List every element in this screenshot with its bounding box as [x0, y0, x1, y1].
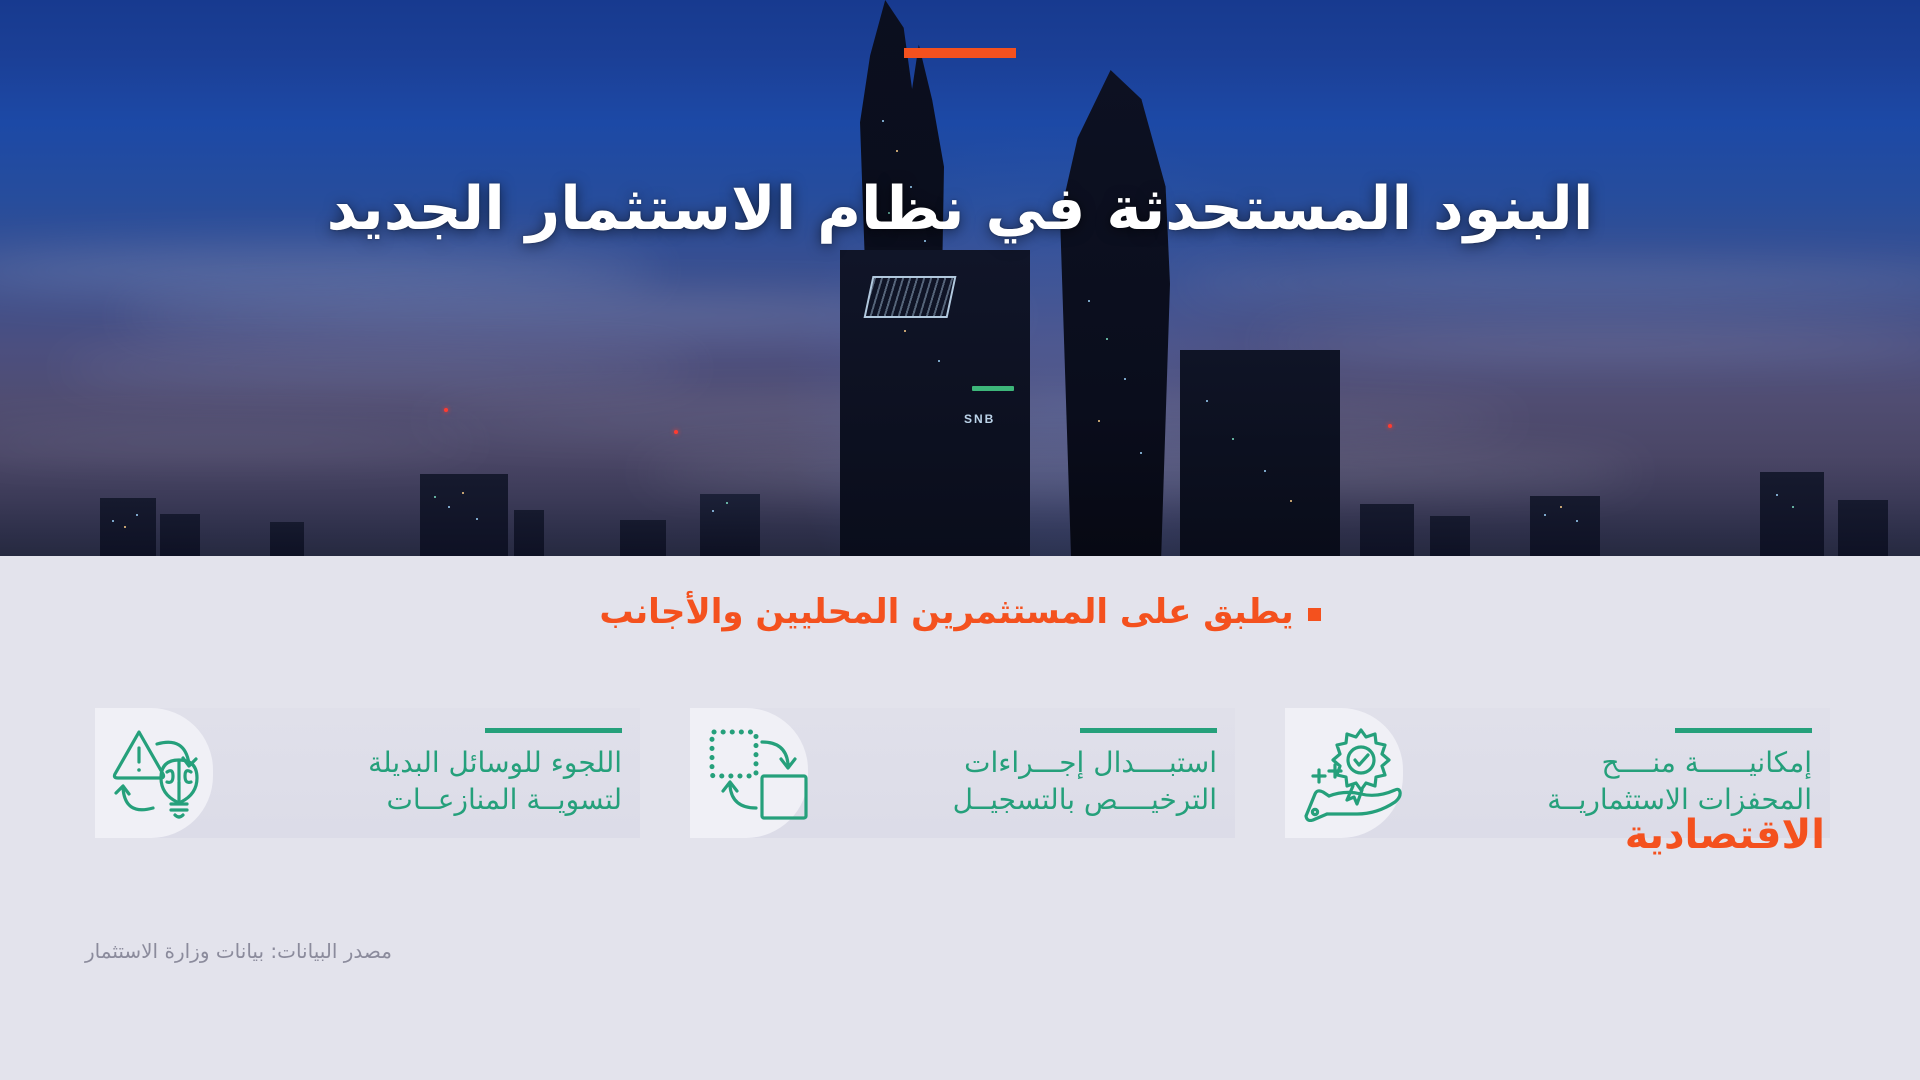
content-panel: يطبق على المستثمرين المحليين والأجانب	[0, 556, 1920, 1080]
card-top-rule	[485, 728, 622, 733]
swap-squares-icon	[700, 718, 820, 828]
snb-sign-label: SNB	[964, 412, 995, 426]
card-text-block: استبــــدال إجـــراءات الترخيــــص بالتس…	[819, 708, 1217, 838]
accent-bar	[904, 48, 1016, 58]
feature-cards: اللجوء للوسائل البديلة لتسويــة المنازعـ…	[95, 708, 1830, 838]
cloud-streak	[1260, 330, 1920, 356]
warning-lightbulb-cycle-icon	[105, 718, 225, 828]
data-source-note: مصدر البيانات: بيانات وزارة الاستثمار	[85, 939, 392, 963]
card-text-block: إمكانيــــــة منــــح المحفزات الاستثمار…	[1414, 708, 1812, 838]
card-top-rule	[1080, 728, 1217, 733]
neon-billboard-icon	[864, 276, 957, 318]
card-label: إمكانيــــــة منــــح المحفزات الاستثمار…	[1414, 745, 1812, 818]
page-title: البنود المستحدثة في نظام الاستثمار الجدي…	[0, 172, 1920, 247]
cloud-streak	[60, 355, 700, 381]
card-top-rule	[1675, 728, 1812, 733]
subtitle-text: يطبق على المستثمرين المحليين والأجانب	[599, 592, 1293, 632]
feature-card: اللجوء للوسائل البديلة لتسويــة المنازعـ…	[95, 708, 640, 838]
green-facade-light	[972, 386, 1014, 391]
card-label: اللجوء للوسائل البديلة لتسويــة المنازعـ…	[224, 745, 622, 818]
tower-silhouette	[1180, 350, 1340, 556]
square-bullet-icon	[1308, 608, 1321, 621]
hero-image: SNB البنود المستحدثة في نظام الاستثمار ا…	[0, 0, 1920, 556]
card-label: استبــــدال إجـــراءات الترخيــــص بالتس…	[819, 745, 1217, 818]
feature-card: إمكانيــــــة منــــح المحفزات الاستثمار…	[1285, 708, 1830, 838]
subtitle-row: يطبق على المستثمرين المحليين والأجانب	[0, 592, 1920, 632]
hand-award-plus-icon	[1295, 718, 1415, 828]
card-text-block: اللجوء للوسائل البديلة لتسويــة المنازعـ…	[224, 708, 622, 838]
infographic-page: SNB البنود المستحدثة في نظام الاستثمار ا…	[0, 0, 1920, 1080]
feature-card: استبــــدال إجـــراءات الترخيــــص بالتس…	[690, 708, 1235, 838]
